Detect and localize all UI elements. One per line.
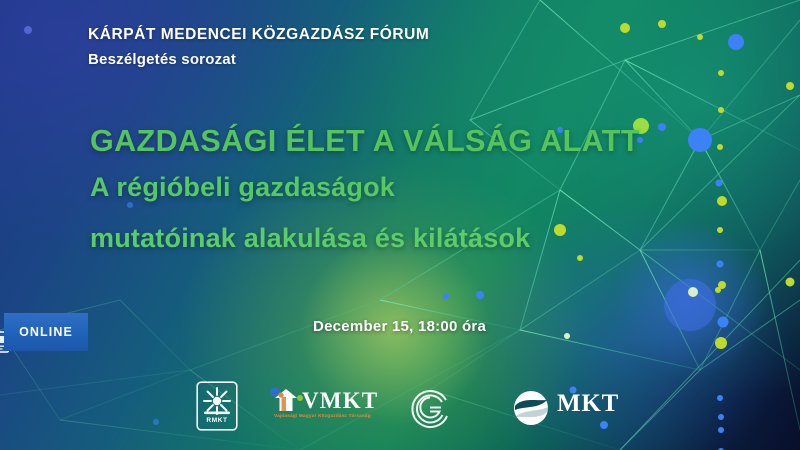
logo-rmkt: RMKT: [196, 381, 238, 431]
sponsor-logo-row: RMKT VMKT Vajdasági Magyar Közgazdász Tá…: [0, 378, 800, 438]
kicker-block: KÁRPÁT MEDENCEI KÖZGAZDÁSZ FÓRUM Beszélg…: [88, 24, 429, 71]
event-datetime: December 15, 18:00 óra: [313, 318, 486, 335]
starburst-icon: [204, 388, 230, 414]
logo-mkt: MKT: [512, 388, 627, 428]
online-badge-label: ONLINE: [19, 325, 73, 339]
logo-vmkt-subtitle: Vajdasági Magyar Közgazdász Társaság: [274, 413, 371, 419]
kicker-line-1: KÁRPÁT MEDENCEI KÖZGAZDÁSZ FÓRUM: [88, 24, 429, 46]
spiral-g-icon: [406, 386, 454, 430]
status-badge-online[interactable]: ONLINE: [4, 313, 88, 351]
event-poster: KÁRPÁT MEDENCEI KÖZGAZDÁSZ FÓRUM Beszélg…: [0, 0, 800, 450]
subtitle-line-1: A régióbeli gazdaságok: [90, 172, 395, 203]
logo-vmkt: VMKT Vajdasági Magyar Közgazdász Társasá…: [266, 386, 384, 428]
subtitle-line-2: mutatóinak alakulása és kilátások: [90, 223, 530, 254]
kicker-line-2: Beszélgetés sorozat: [88, 49, 429, 71]
wave-circle-icon: [512, 388, 552, 428]
logo-mkt-label: MKT: [557, 390, 619, 418]
logo-g-circle: [406, 386, 454, 430]
logo-rmkt-label: RMKT: [196, 417, 238, 424]
logo-vmkt-label: VMKT: [302, 388, 378, 414]
page-title: GAZDASÁGI ÉLET A VÁLSÁG ALATT: [90, 124, 640, 159]
